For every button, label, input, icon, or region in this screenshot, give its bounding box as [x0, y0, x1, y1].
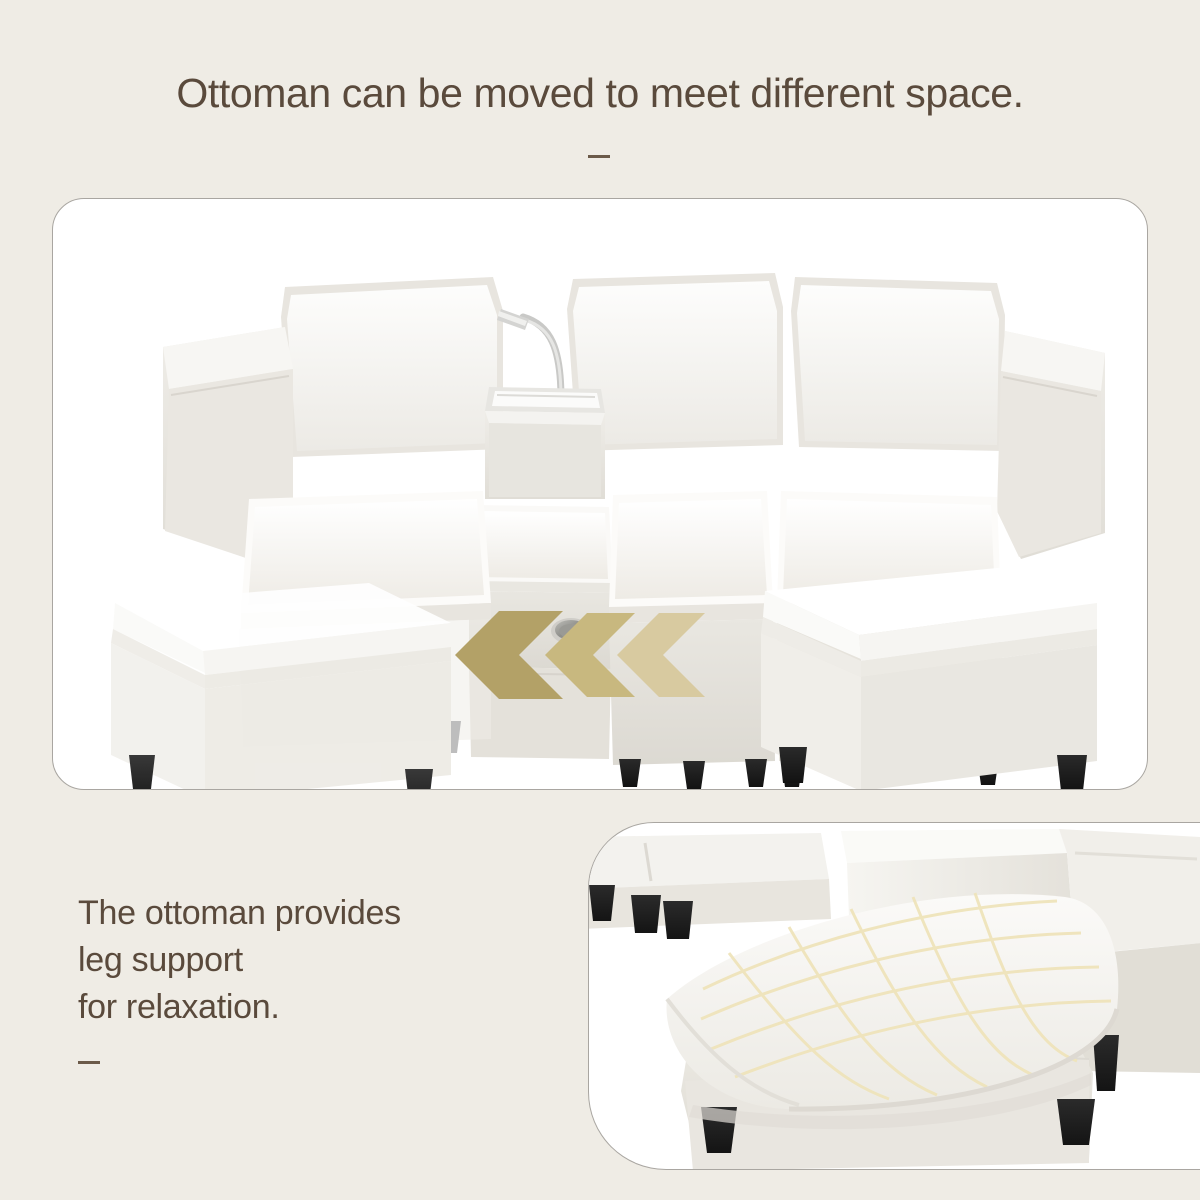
subcopy-line-3: for relaxation.	[78, 984, 548, 1031]
console-armrest-pad	[469, 505, 613, 593]
sofa-illustration	[53, 199, 1148, 790]
subcopy-line-1: The ottoman provides	[78, 890, 548, 937]
reading-lamp-icon	[497, 309, 561, 399]
seat-cushion-middle	[609, 491, 773, 623]
ottoman-left-ghost	[111, 583, 461, 790]
storage-tray	[485, 387, 605, 413]
ottoman-closeup-illustration	[589, 823, 1200, 1170]
page-title: Ottoman can be moved to meet different s…	[0, 70, 1200, 117]
arm-right	[997, 331, 1105, 559]
ottoman-closeup-photo	[588, 822, 1200, 1170]
subcopy-block: The ottoman provides leg support for rel…	[78, 890, 548, 1031]
back-cushion-left	[281, 277, 503, 457]
sofa-rear-left-module	[589, 833, 831, 939]
console-upper-box	[485, 411, 605, 499]
headline-divider	[588, 155, 610, 158]
subcopy-line-2: leg support	[78, 937, 548, 984]
product-infographic-page: Ottoman can be moved to meet different s…	[0, 0, 1200, 1200]
main-product-photo	[52, 198, 1148, 790]
subcopy-divider	[78, 1061, 100, 1064]
back-cushion-right	[791, 277, 1005, 451]
ottoman-right	[761, 567, 1097, 790]
